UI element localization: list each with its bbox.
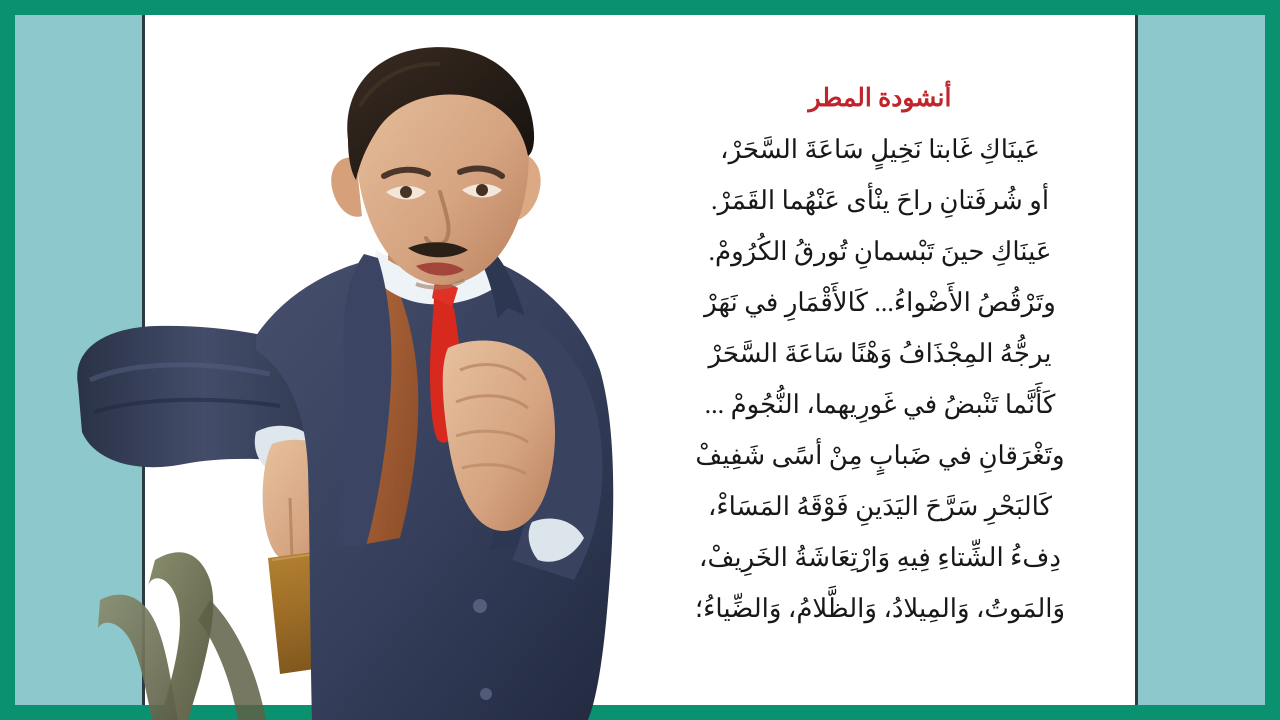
poet-portrait-illustration [60,40,680,720]
poem-verse-line: وَالمَوتُ، وَالمِيلادُ، وَالظَّلامُ، وَا… [600,583,1160,634]
slide-root: أنشودة المطر عَينَاكِ غَابتا نَخِيلٍ سَا… [0,0,1280,720]
poem-verse-line: عَينَاكِ حينَ تَبْسمانِ تُورقُ الكُرُومْ… [600,226,1160,277]
poem-verse-line: عَينَاكِ غَابتا نَخِيلٍ سَاعَةَ السَّحَر… [600,124,1160,175]
frame-band-green-right [1265,0,1280,720]
poem-text-block: أنشودة المطر عَينَاكِ غَابتا نَخِيلٍ سَا… [600,82,1160,634]
poem-verse-line: وتَرْقُصُ الأَضْواءُ... كَالأَقْمَارِ في… [600,277,1160,328]
frame-band-green-left [0,0,15,720]
poem-verse-line: وتَغْرَقانِ في ضَبابٍ مِنْ أسًى شَفِيفْ [600,430,1160,481]
poem-verse-line: كَالبَحْرِ سَرَّحَ اليَدَينِ فَوْقَهُ ال… [600,481,1160,532]
driftwood-branch [98,552,266,720]
head [347,47,534,287]
poem-verse-line: كَأَنَّما تَنْبضُ في غَورِيهما، النُّجُو… [600,379,1160,430]
frame-band-green-top [0,0,1280,15]
poem-title: أنشودة المطر [600,82,1160,116]
poem-verse-line: يرجُّهُ المِجْذَافُ وَهْنًا سَاعَةَ السَ… [600,328,1160,379]
poem-verse-line: دِفءُ الشِّتاءِ فِيهِ وَارْتِعَاشَةُ الخ… [600,532,1160,583]
poem-verse-line: أو شُرفَتانِ راحَ ينْأى عَنْهُما القَمَر… [600,175,1160,226]
